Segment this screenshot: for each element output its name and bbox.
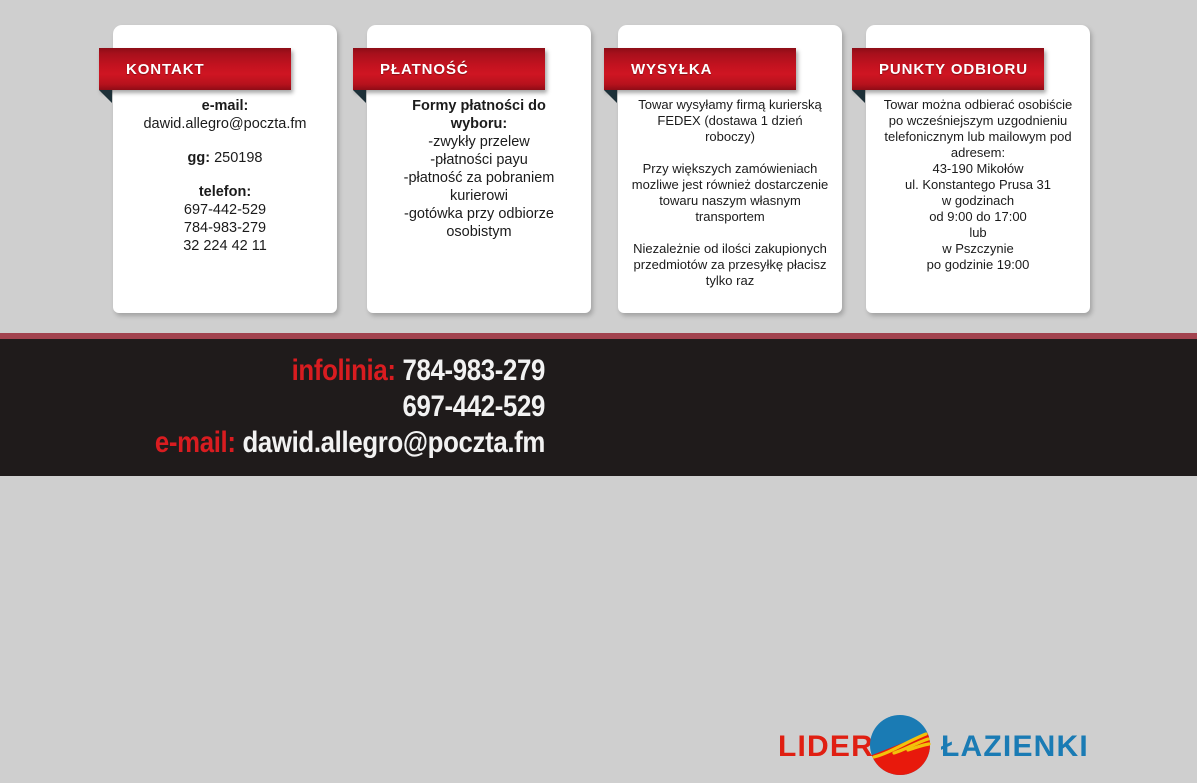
info-card-kontakt: KONTAKT e-mail: dawid.allegro@poczta.fm …: [113, 25, 337, 313]
card-body-wysylka: Towar wysyłamy firmą kurierską FEDEX (do…: [618, 97, 842, 289]
card-line: lub: [875, 225, 1081, 241]
card-body-platnosc: Formy płatności do wyboru: -zwykły przel…: [367, 97, 591, 241]
footer-contact-line: infolinia: 784-983-279: [76, 353, 545, 389]
card-line: FEDEX (dostawa 1 dzień: [627, 113, 833, 129]
card-title: WYSYŁKA: [604, 62, 712, 77]
infolinia-value: 784-983-279: [402, 354, 545, 387]
info-cards-section: KONTAKT e-mail: dawid.allegro@poczta.fm …: [0, 0, 1197, 333]
email-value: dawid.allegro@poczta.fm: [242, 426, 545, 459]
infolinia-label: infolinia:: [292, 354, 396, 387]
spacer: [627, 225, 833, 241]
card-line-hours: po godzinie 19:00: [875, 257, 1081, 273]
logo-word-lazienki: ŁAZIENKI: [941, 732, 1089, 762]
footer-contact-line: 697-442-529: [76, 389, 545, 425]
info-card-wysylka: WYSYŁKA Towar wysyłamy firmą kurierską F…: [618, 25, 842, 313]
card-line: przedmiotów za przesyłkę płacisz: [627, 257, 833, 273]
card-body-punkty-odbioru: Towar można odbierać osobiście po wcześn…: [866, 97, 1090, 273]
footer-contact-line: e-mail: dawid.allegro@poczta.fm: [76, 425, 545, 461]
card-line-email: dawid.allegro@poczta.fm: [122, 115, 328, 133]
spacer: [122, 167, 328, 183]
spacer: [627, 145, 833, 161]
card-line-hours: od 9:00 do 17:00: [875, 209, 1081, 225]
card-line: roboczy): [627, 129, 833, 145]
logo-mark-icon: [868, 713, 932, 777]
ribbon-fold-icon: [353, 90, 366, 103]
ribbon-banner: WYSYŁKA: [604, 48, 796, 90]
card-ribbon: KONTAKT: [99, 48, 291, 90]
spacer: [122, 133, 328, 149]
card-line-payment-option: -płatność za pobraniem: [376, 169, 582, 187]
ribbon-banner: PUNKTY ODBIORU: [852, 48, 1044, 90]
card-title: PUNKTY ODBIORU: [852, 62, 1028, 77]
card-ribbon: PUNKTY ODBIORU: [852, 48, 1044, 90]
card-line: w godzinach: [875, 193, 1081, 209]
card-line: po wcześniejszym uzgodnieniu: [875, 113, 1081, 129]
card-title: KONTAKT: [99, 62, 205, 77]
gg-value: 250198: [210, 150, 262, 166]
card-title: PŁATNOŚĆ: [353, 62, 469, 77]
card-ribbon: WYSYŁKA: [604, 48, 796, 90]
card-line-gg: gg: 250198: [122, 149, 328, 167]
ribbon-banner: KONTAKT: [99, 48, 291, 90]
card-line: Towar można odbierać osobiście: [875, 97, 1081, 113]
footer-contact-block: infolinia: 784-983-279 697-442-529 e-mai…: [0, 353, 545, 461]
card-line-city: w Pszczynie: [875, 241, 1081, 257]
card-line-payment-option: -płatności payu: [376, 151, 582, 169]
ribbon-banner: PŁATNOŚĆ: [353, 48, 545, 90]
card-line-postcode: 43-190 Mikołów: [875, 161, 1081, 177]
card-line: mozliwe jest również dostarczenie: [627, 177, 833, 193]
card-line-payment-option: osobistym: [376, 223, 582, 241]
card-line: Niezależnie od ilości zakupionych: [627, 241, 833, 257]
ribbon-fold-icon: [852, 90, 865, 103]
infolinia-value-2: 697-442-529: [402, 390, 545, 423]
card-body-kontakt: e-mail: dawid.allegro@poczta.fm gg: 2501…: [113, 97, 337, 255]
card-line-payment-option: kurierowi: [376, 187, 582, 205]
card-line: towaru naszym własnym: [627, 193, 833, 209]
card-line-payment-option: -zwykły przelew: [376, 133, 582, 151]
email-label: e-mail:: [155, 426, 236, 459]
page-root: KONTAKT e-mail: dawid.allegro@poczta.fm …: [0, 0, 1197, 476]
card-line: Towar wysyłamy firmą kurierską: [627, 97, 833, 113]
card-line: tylko raz: [627, 273, 833, 289]
card-line: adresem:: [875, 145, 1081, 161]
card-line: transportem: [627, 209, 833, 225]
card-line: wyboru:: [376, 115, 582, 133]
card-line-payment-option: -gotówka przy odbiorze: [376, 205, 582, 223]
card-ribbon: PŁATNOŚĆ: [353, 48, 545, 90]
card-line: Formy płatności do: [376, 97, 582, 115]
card-line-phone: 784-983-279: [122, 219, 328, 237]
card-line-street: ul. Konstantego Prusa 31: [875, 177, 1081, 193]
card-line-phone: 697-442-529: [122, 201, 328, 219]
card-line: e-mail:: [122, 97, 328, 115]
gg-label: gg:: [188, 150, 211, 166]
card-line: telefonicznym lub mailowym pod: [875, 129, 1081, 145]
ribbon-fold-icon: [99, 90, 112, 103]
card-line-phone: 32 224 42 11: [122, 237, 328, 255]
page-footer: infolinia: 784-983-279 697-442-529 e-mai…: [0, 339, 1197, 476]
card-line: Przy większych zamówieniach: [627, 161, 833, 177]
logo-word-lider: LIDER: [778, 732, 874, 762]
brand-logo[interactable]: LIDER: [778, 711, 1093, 783]
info-card-punkty-odbioru: PUNKTY ODBIORU Towar można odbierać osob…: [866, 25, 1090, 313]
info-card-platnosc: PŁATNOŚĆ Formy płatności do wyboru: -zwy…: [367, 25, 591, 313]
ribbon-fold-icon: [604, 90, 617, 103]
card-line-telefon-label: telefon:: [122, 183, 328, 201]
